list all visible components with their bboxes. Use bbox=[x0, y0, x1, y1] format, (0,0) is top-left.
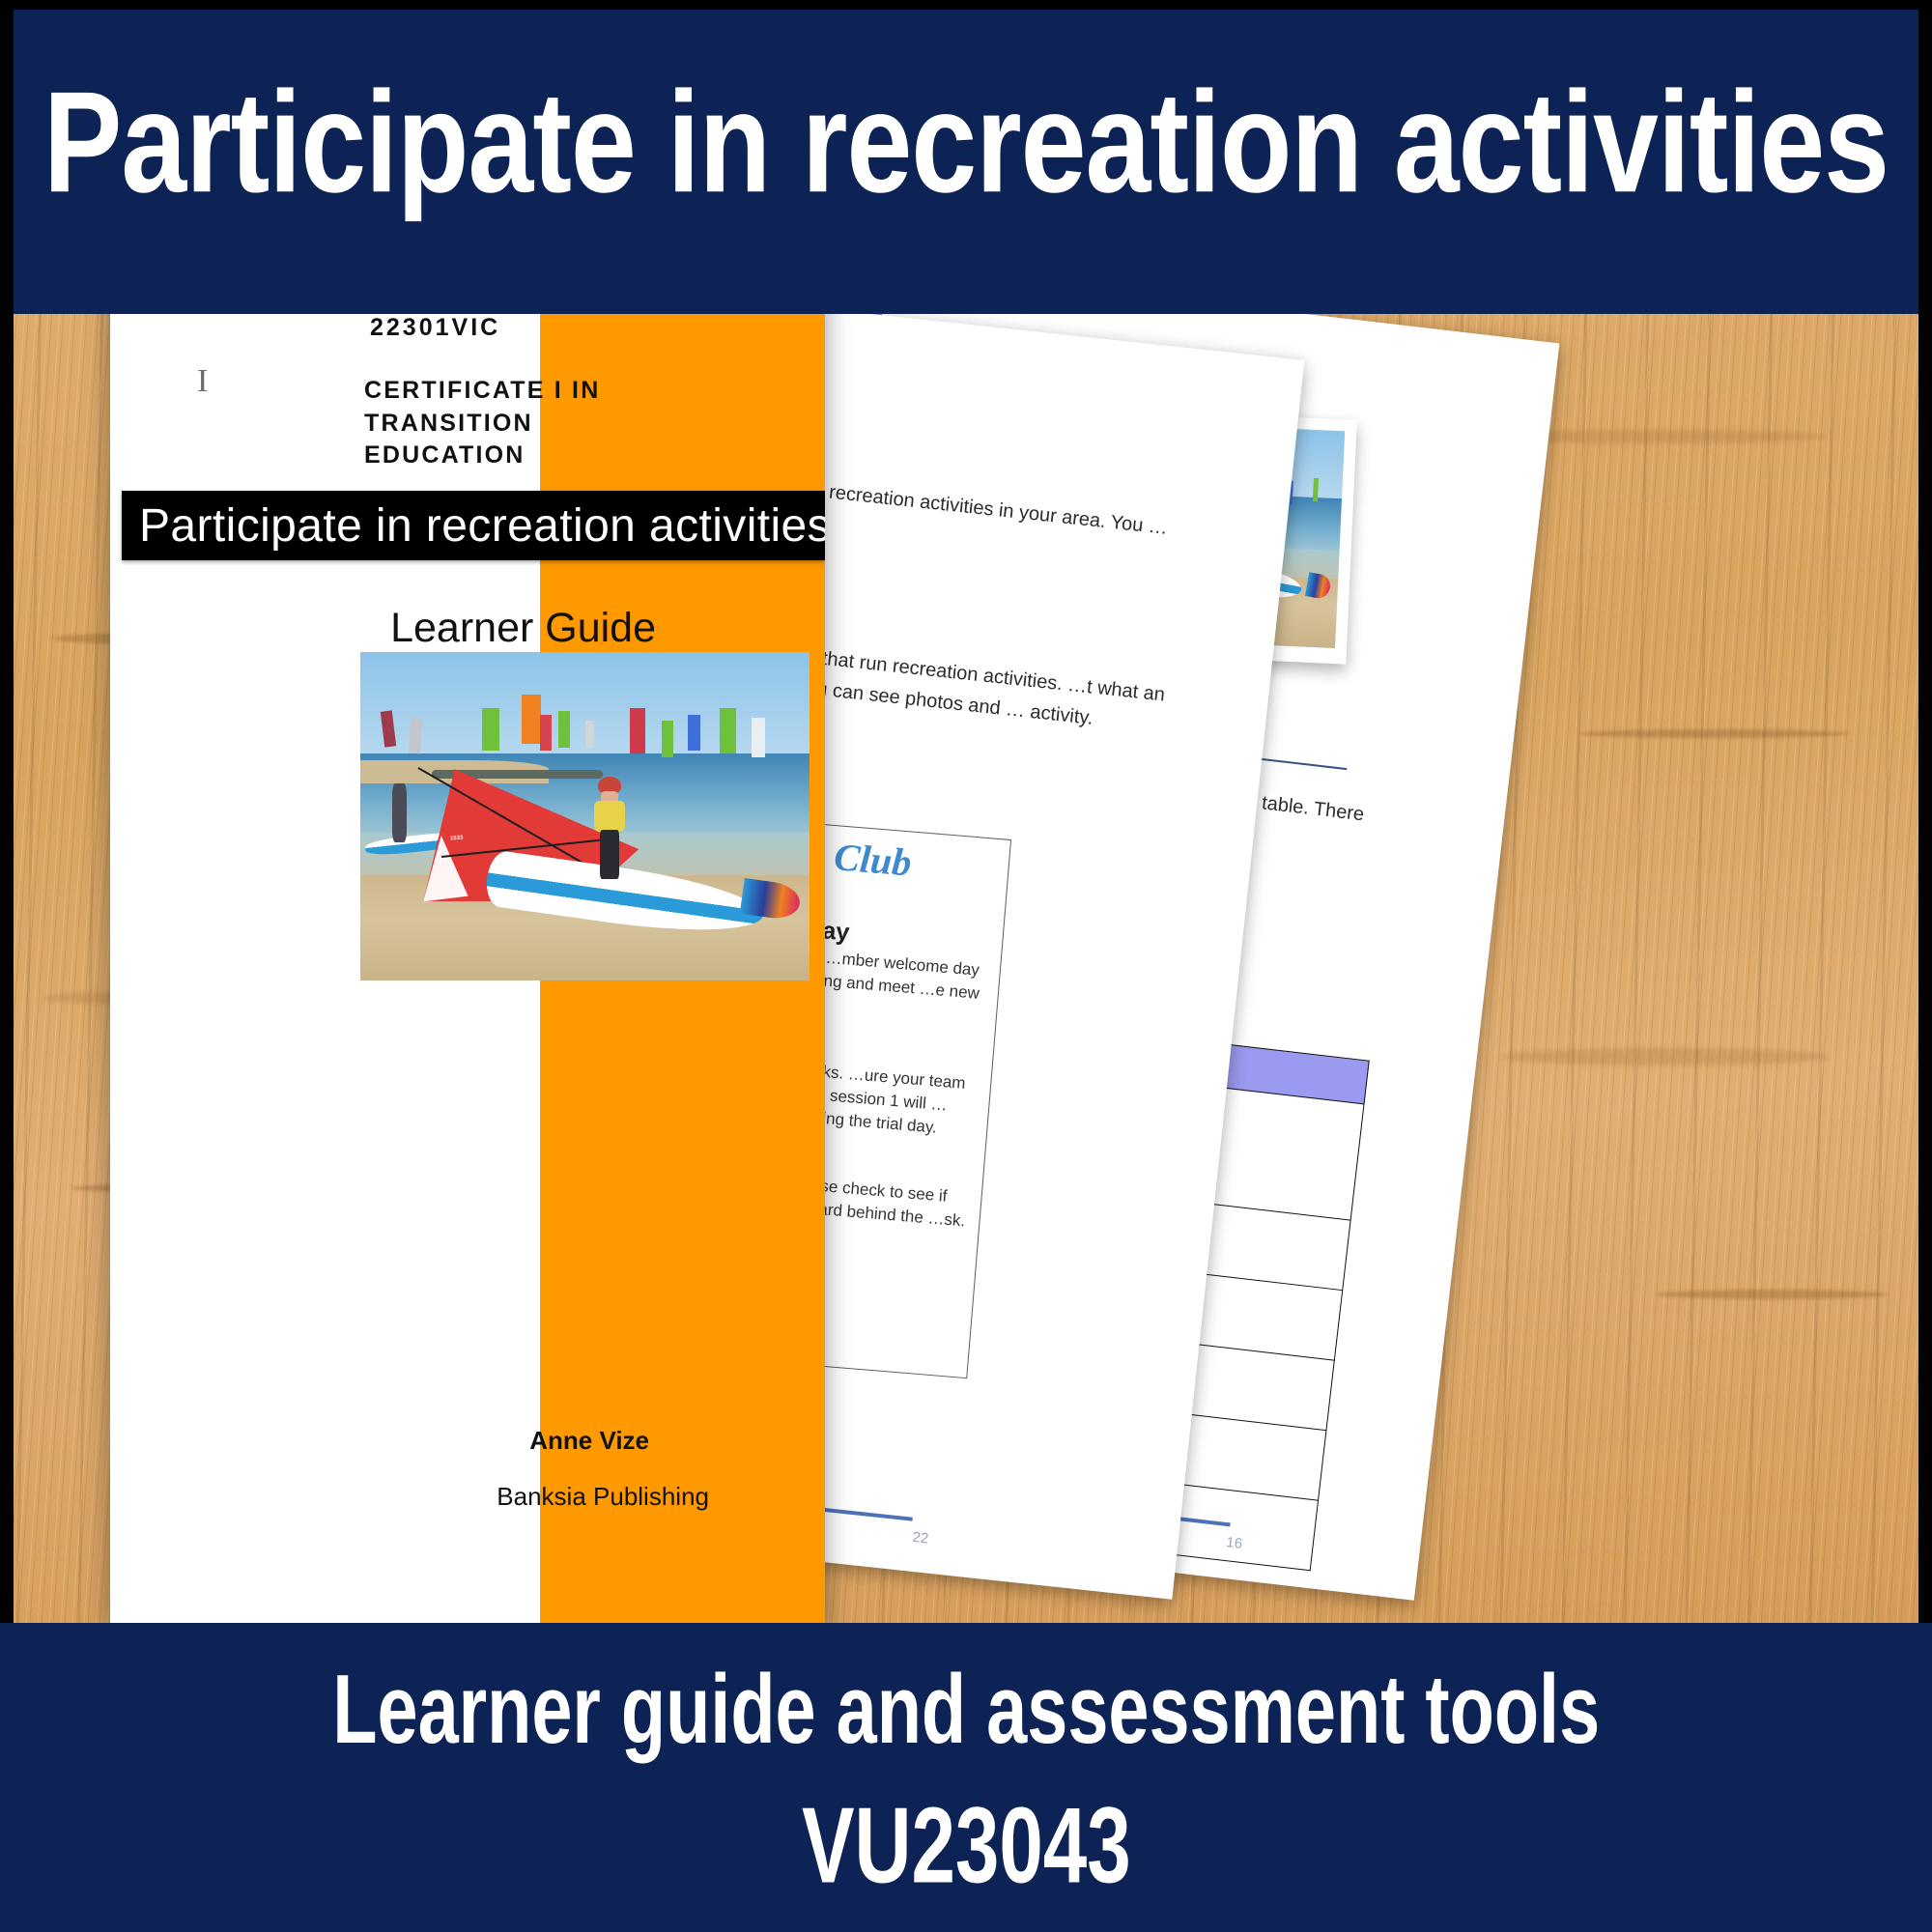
top-title-banner: Participate in recreation activities bbox=[14, 10, 1918, 314]
cover-author: Anne Vize bbox=[529, 1426, 649, 1456]
wooden-desk-background: …ady to race their windsurfer. …munity t… bbox=[14, 314, 1918, 1624]
bottom-banner-line2: VU23043 bbox=[802, 1792, 1131, 1900]
cover-title: Participate in recreation activities bbox=[122, 499, 825, 553]
cover-qualification: CERTIFICATE I IN TRANSITION EDUCATION bbox=[364, 375, 635, 472]
text-cursor-mark: I bbox=[197, 365, 208, 398]
product-listing-image: Participate in recreation activities bbox=[0, 0, 1932, 1932]
bottom-banner-line1: Learner guide and assessment tools bbox=[332, 1660, 1600, 1757]
learner-guide-book-cover: I 22301VIC CERTIFICATE I IN TRANSITION E… bbox=[110, 314, 825, 1624]
cover-publisher: Banksia Publishing bbox=[497, 1482, 709, 1512]
top-banner-title: Participate in recreation activities bbox=[43, 70, 1889, 213]
cover-photo-windsurfing: 1533 bbox=[360, 652, 810, 980]
page-number-middle: 22 bbox=[912, 1529, 929, 1548]
cover-course-code: 22301VIC bbox=[370, 314, 602, 342]
page-number-right: 16 bbox=[1225, 1534, 1243, 1552]
cover-resource-type: Learner Guide bbox=[390, 605, 656, 652]
cover-title-bar: Participate in recreation activities bbox=[122, 491, 825, 560]
bottom-caption-banner: Learner guide and assessment tools VU230… bbox=[0, 1623, 1932, 1932]
